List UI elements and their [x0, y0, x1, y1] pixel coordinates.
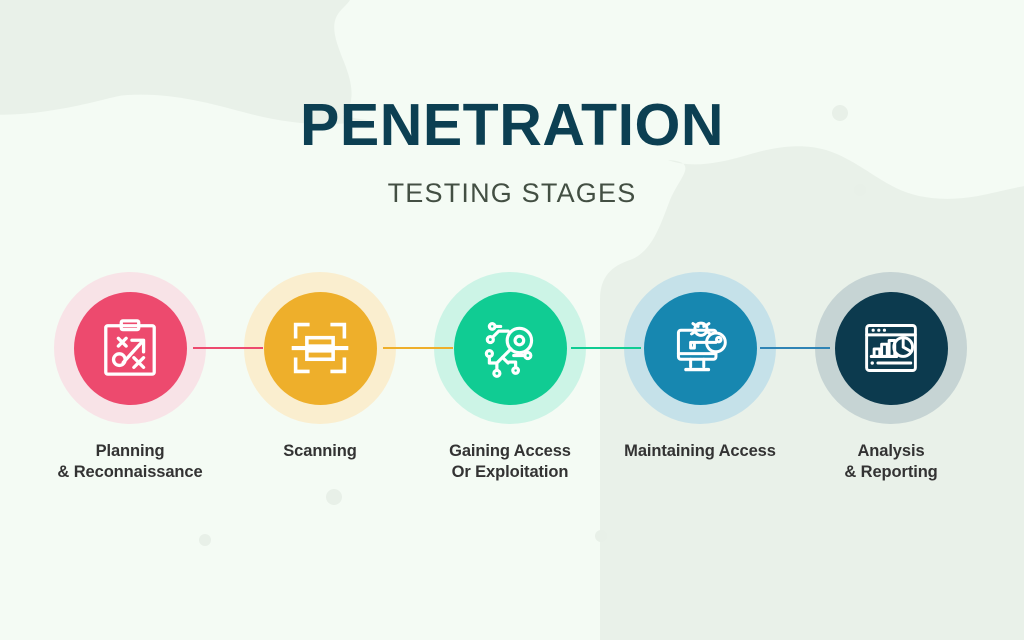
- stage-1-core: [74, 292, 187, 405]
- stage-2-scanning[interactable]: Scanning: [222, 272, 418, 462]
- header: PENETRATION TESTING STAGES: [0, 96, 1024, 209]
- decor-dot: [595, 530, 607, 542]
- stage-3-label: Gaining Access Or Exploitation: [412, 441, 608, 483]
- page-title: PENETRATION: [0, 96, 1024, 155]
- stage-3-core: [454, 292, 567, 405]
- stage-4-ring: [624, 272, 776, 424]
- stage-2-core: [264, 292, 377, 405]
- connector-1-2: [193, 347, 263, 349]
- connector-4-5: [760, 347, 830, 349]
- stage-5-core: [835, 292, 948, 405]
- monitor-key-gear-icon: [670, 318, 730, 378]
- stage-3-gaining-access[interactable]: Gaining Access Or Exploitation: [412, 272, 608, 483]
- connector-2-3: [383, 347, 453, 349]
- scan-frame-icon: [290, 318, 350, 378]
- stage-3-ring: [434, 272, 586, 424]
- digital-key-icon: [480, 318, 540, 378]
- stage-2-label: Scanning: [222, 441, 418, 462]
- page-subtitle: TESTING STAGES: [0, 178, 1024, 209]
- stage-5-analysis-reporting[interactable]: Analysis & Reporting: [793, 272, 989, 483]
- stage-1-ring: [54, 272, 206, 424]
- stage-5-label: Analysis & Reporting: [793, 441, 989, 483]
- clipboard-strategy-icon: [99, 317, 161, 379]
- report-dashboard-icon: [861, 318, 921, 378]
- stages-row: Planning & Reconnaissance Scanning: [0, 272, 1024, 492]
- stage-4-maintaining-access[interactable]: Maintaining Access: [602, 272, 798, 462]
- stage-4-core: [644, 292, 757, 405]
- stage-1-label: Planning & Reconnaissance: [32, 441, 228, 483]
- stage-4-label: Maintaining Access: [602, 441, 798, 462]
- stage-5-ring: [815, 272, 967, 424]
- stage-2-ring: [244, 272, 396, 424]
- decor-dot: [199, 534, 211, 546]
- stage-1-planning-reconnaissance[interactable]: Planning & Reconnaissance: [32, 272, 228, 483]
- connector-3-4: [571, 347, 641, 349]
